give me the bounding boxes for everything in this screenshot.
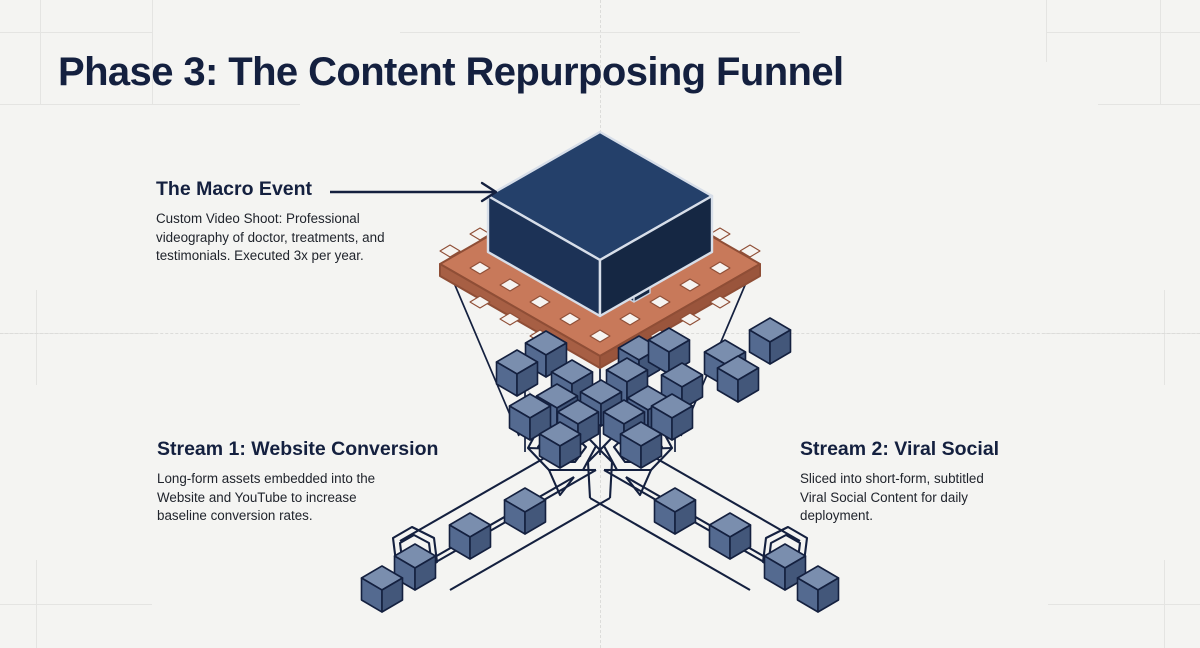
annotation-stream-2: Stream 2: Viral Social Sliced into short…	[800, 438, 999, 526]
annotation-stream-1: Stream 1: Website Conversion Long-form a…	[157, 438, 438, 526]
annotation-heading: The Macro Event	[156, 178, 385, 201]
annotation-body-line: deployment.	[800, 507, 999, 526]
annotation-body: Sliced into short-form, subtitled Viral …	[800, 470, 999, 526]
annotation-body-line: Sliced into short-form, subtitled	[800, 470, 999, 489]
annotation-macro-event: The Macro Event Custom Video Shoot: Prof…	[156, 178, 385, 266]
annotation-body-line: Long-form assets embedded into the	[157, 470, 438, 489]
falling-cubes	[497, 318, 791, 468]
annotation-heading: Stream 2: Viral Social	[800, 438, 999, 461]
annotation-heading: Stream 1: Website Conversion	[157, 438, 438, 461]
annotation-body-line: testimonials. Executed 3x per year.	[156, 247, 385, 266]
annotation-body-line: Viral Social Content for daily	[800, 489, 999, 508]
annotation-body-line: Custom Video Shoot: Professional	[156, 210, 385, 229]
annotation-body-line: videography of doctor, treatments, and	[156, 229, 385, 248]
annotation-body-line: baseline conversion rates.	[157, 507, 438, 526]
annotation-body: Long-form assets embedded into the Websi…	[157, 470, 438, 526]
infographic-canvas: Phase 3: The Content Repurposing Funnel	[0, 0, 1200, 648]
funnel-diagram	[0, 0, 1200, 648]
annotation-body-line: Website and YouTube to increase	[157, 489, 438, 508]
annotation-body: Custom Video Shoot: Professional videogr…	[156, 210, 385, 266]
